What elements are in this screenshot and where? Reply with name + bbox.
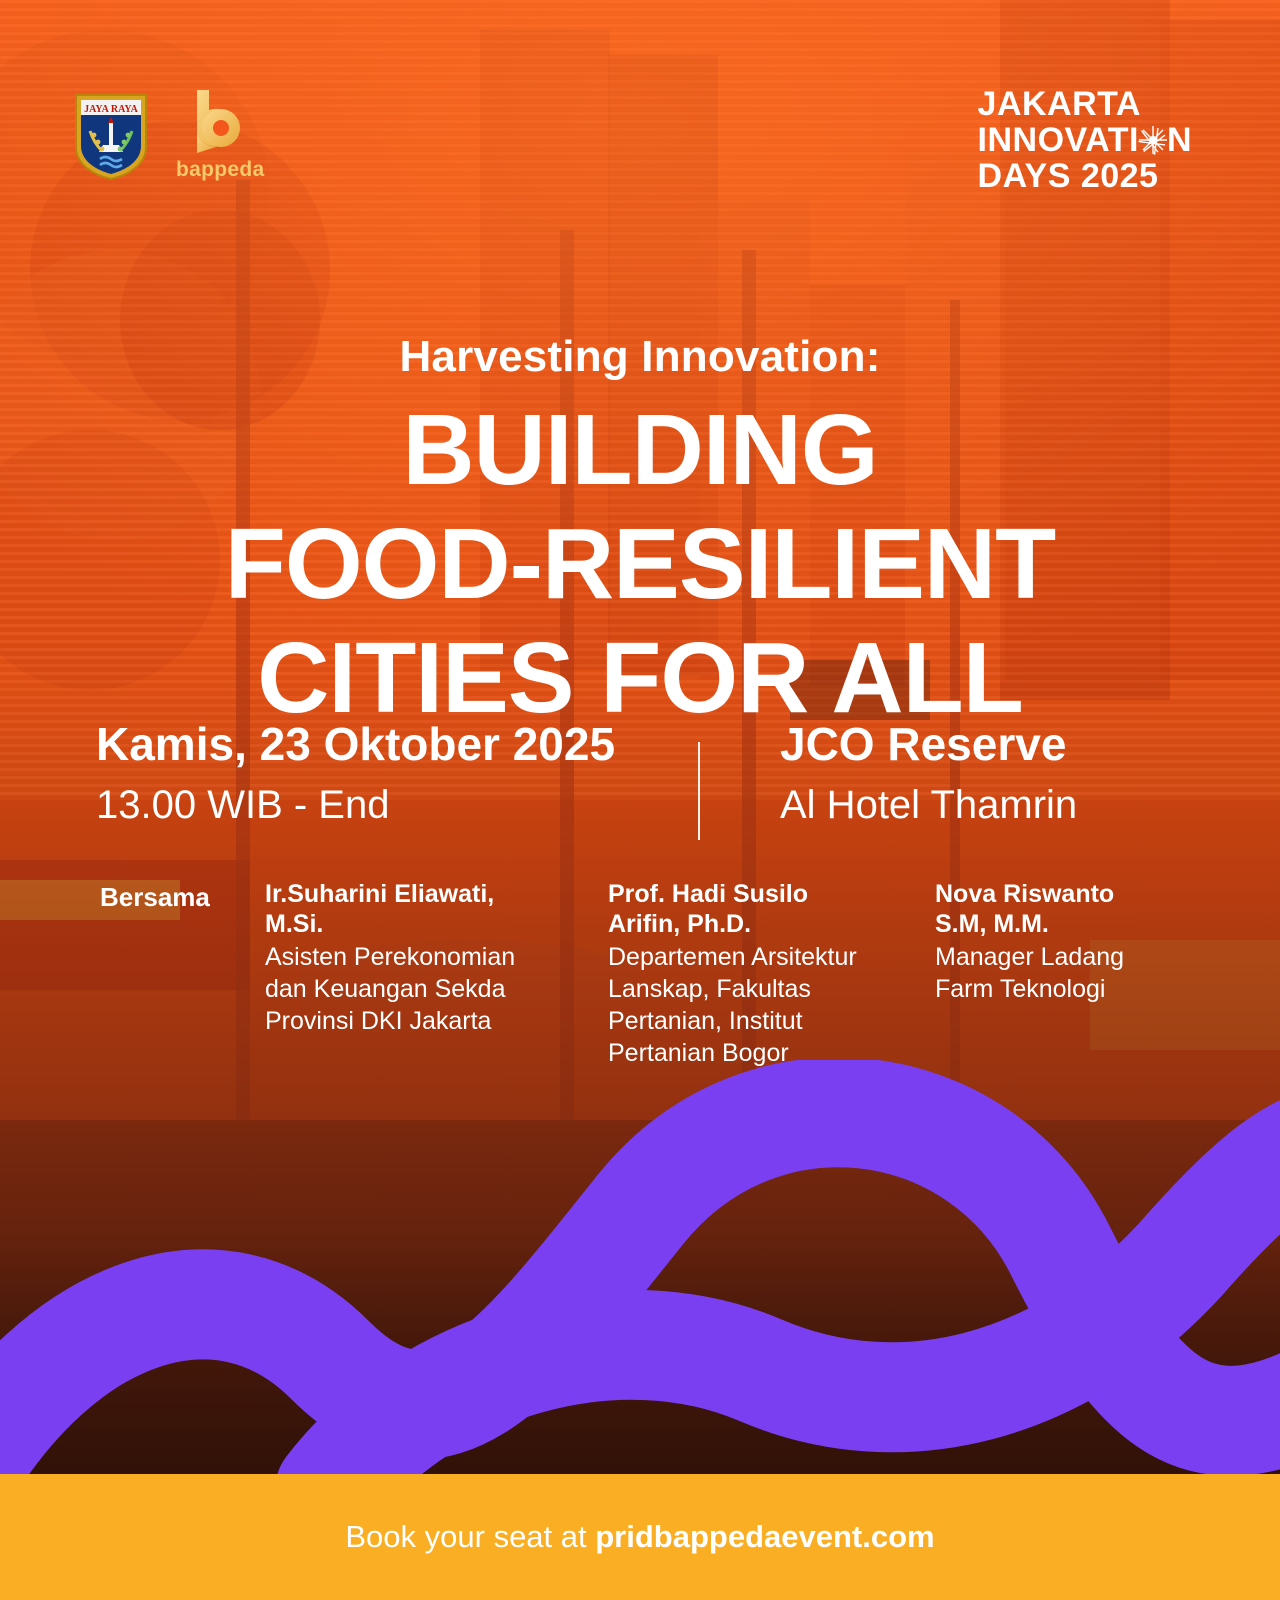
speaker-role: Asisten Perekonomian dan Keuangan Sekda … [265, 941, 550, 1037]
speaker-card-3: Nova Riswanto S.M, M.M. Manager Ladang F… [935, 880, 1165, 1005]
headline-line-2: FOOD-RESILIENT [0, 518, 1280, 610]
vertical-divider [698, 742, 700, 840]
jid-line-2: INNOVATI [978, 122, 1139, 158]
registration-url[interactable]: pridbappedaevent.com [595, 1519, 934, 1554]
crest-motto: JAYA RAYA [84, 104, 139, 115]
registration-footer-bar: Book your seat at pridbappedaevent.com [0, 1474, 1280, 1600]
headline-line-3: CITIES FOR ALL [0, 632, 1280, 724]
jid-line-1: JAKARTA [978, 86, 1141, 122]
speaker-name: Ir.Suharini Eliawati, M.Si. [265, 880, 550, 939]
event-date: Kamis, 23 Oktober 2025 [96, 718, 615, 771]
starburst-icon [1138, 125, 1168, 155]
purple-swoosh-graphic [0, 1060, 1280, 1480]
cta-prefix-text: Book your seat at [345, 1519, 595, 1554]
speaker-name: Nova Riswanto S.M, M.M. [935, 880, 1165, 939]
headline-line-1: BUILDING [0, 404, 1280, 496]
event-poster: JAYA RAYA [0, 0, 1280, 1600]
venue-name: JCO Reserve [780, 718, 1077, 771]
venue-location: Al Hotel Thamrin [780, 781, 1077, 829]
registration-cta: Book your seat at pridbappedaevent.com [345, 1519, 934, 1555]
speaker-card-1: Ir.Suharini Eliawati, M.Si. Asisten Pere… [265, 880, 550, 1037]
event-time: 13.00 WIB - End [96, 781, 615, 829]
jakarta-innovation-days-logo: JAKARTA INNOVATI N DAYS 2025 [978, 86, 1192, 194]
speaker-card-2: Prof. Hadi Susilo Arifin, Ph.D. Departem… [608, 880, 878, 1069]
partner-logos: JAYA RAYA [72, 88, 264, 182]
bappeda-logo: bappeda [176, 88, 264, 182]
bappeda-mark-icon [189, 88, 251, 154]
bappeda-wordmark: bappeda [176, 158, 264, 182]
speaker-role: Manager Ladang Farm Teknologi [935, 941, 1165, 1005]
jid-line-2b: N [1167, 122, 1192, 158]
speaker-name: Prof. Hadi Susilo Arifin, Ph.D. [608, 880, 878, 939]
headline-eyebrow: Harvesting Innovation: [0, 332, 1280, 382]
jakarta-crest-logo: JAYA RAYA [72, 89, 150, 181]
speaker-role: Departemen Arsitektur Lanskap, Fakultas … [608, 941, 878, 1069]
headline-block: Harvesting Innovation: BUILDING FOOD-RES… [0, 332, 1280, 724]
jid-line-3: DAYS 2025 [978, 158, 1159, 194]
schedule-venue-block: JCO Reserve Al Hotel Thamrin [780, 718, 1077, 829]
schedule-date-block: Kamis, 23 Oktober 2025 13.00 WIB - End [96, 718, 615, 829]
speakers-label: Bersama [100, 882, 210, 913]
